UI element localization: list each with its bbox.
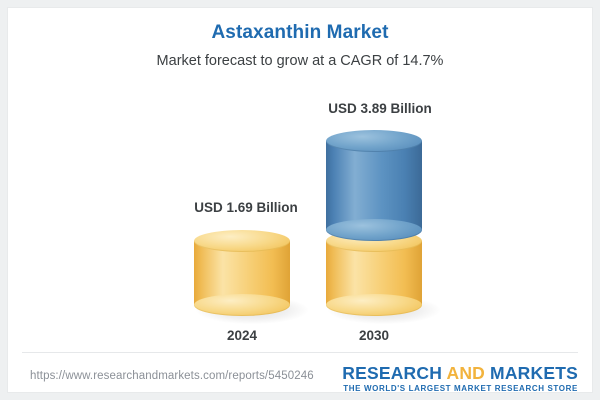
bar-category-label-2030: 2030 xyxy=(284,328,464,343)
logo-word-research: RESEARCH xyxy=(342,363,446,383)
bar-2030-growth-segment[interactable] xyxy=(326,130,422,241)
chart-plot-area: USD 1.69 Billion 2024 USD 3.89 Billion 2… xyxy=(8,8,592,348)
bar-2024-bottom-cap xyxy=(194,294,290,316)
logo-word-markets: MARKETS xyxy=(485,363,578,383)
research-and-markets-logo[interactable]: RESEARCH AND MARKETS THE WORLD'S LARGEST… xyxy=(342,364,578,393)
bar-2030-base-segment[interactable] xyxy=(326,230,422,316)
bar-value-label-2030: USD 3.89 Billion xyxy=(290,101,470,116)
bar-value-label-2024: USD 1.69 Billion xyxy=(156,200,336,215)
footer-divider xyxy=(22,352,578,353)
logo-tagline: THE WORLD'S LARGEST MARKET RESEARCH STOR… xyxy=(342,384,578,393)
bar-2024-top-cap xyxy=(194,230,290,252)
bar-2030-growth-bottom-cap xyxy=(326,219,422,241)
source-url[interactable]: https://www.researchandmarkets.com/repor… xyxy=(30,370,314,382)
chart-card: Astaxanthin Market Market forecast to gr… xyxy=(8,8,592,392)
bar-2024[interactable] xyxy=(194,230,290,316)
logo-wordmark: RESEARCH AND MARKETS xyxy=(342,364,578,382)
bar-2030-growth-body xyxy=(326,141,422,230)
logo-word-and: AND xyxy=(446,363,485,383)
bar-2030-base-bottom-cap xyxy=(326,294,422,316)
bar-2030-growth-top-cap xyxy=(326,130,422,152)
